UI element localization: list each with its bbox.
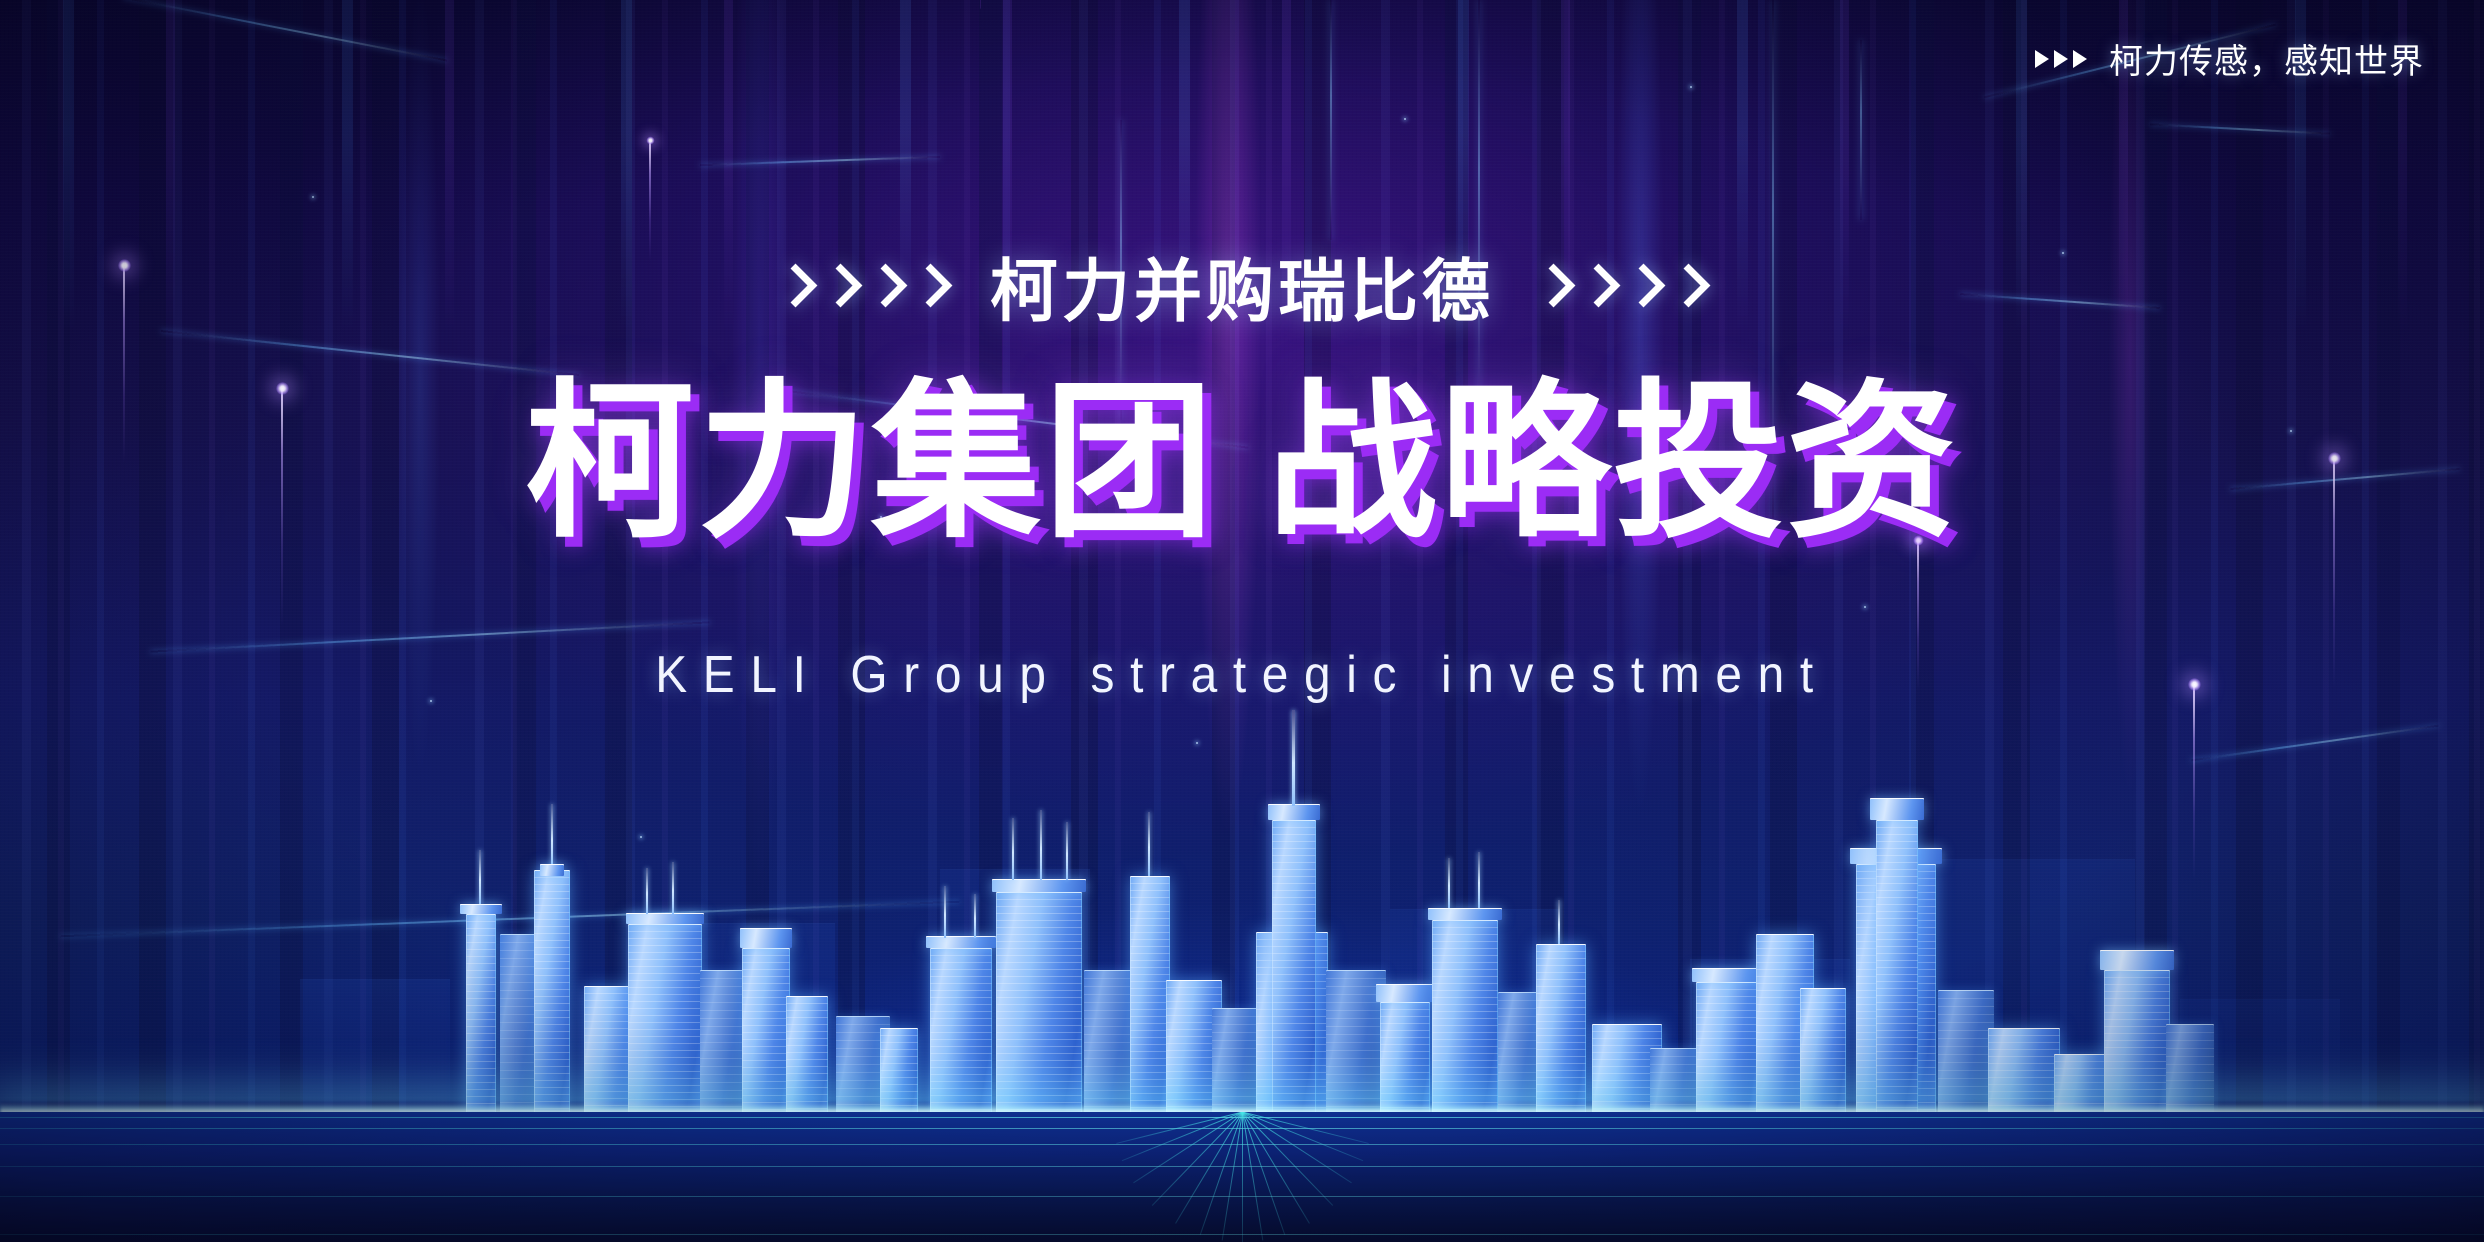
main-headline: 柯力集团 战略投资	[0, 372, 2484, 556]
english-subtitle: KELI Group strategic investment	[99, 645, 2384, 705]
chevron-right-icon	[909, 264, 953, 308]
slogan-text: 柯力传感，感知世界	[2109, 34, 2424, 83]
promo-banner: 柯力传感，感知世界 柯力并购瑞比德 柯力集团 战略投资 KELI Group s…	[0, 0, 2484, 1242]
banner-content: 柯力传感，感知世界 柯力并购瑞比德 柯力集团 战略投资 KELI Group s…	[0, 0, 2484, 1242]
play-triangle-icon	[2035, 50, 2087, 68]
subtitle-row: 柯力并购瑞比德	[0, 236, 2484, 335]
subtitle-text: 柯力并购瑞比德	[990, 236, 1494, 335]
chevron-right-icon	[1622, 264, 1666, 308]
chevron-right-icon	[774, 264, 818, 308]
chevron-right-icon	[1667, 264, 1711, 308]
company-slogan: 柯力传感，感知世界	[2035, 34, 2424, 83]
chevron-right-icon-group-right	[1538, 270, 1704, 301]
chevron-right-icon	[864, 264, 908, 308]
chevron-right-icon-group-left	[780, 270, 946, 301]
chevron-right-icon	[819, 264, 863, 308]
chevron-right-icon	[1532, 264, 1576, 308]
chevron-right-icon	[1577, 264, 1621, 308]
